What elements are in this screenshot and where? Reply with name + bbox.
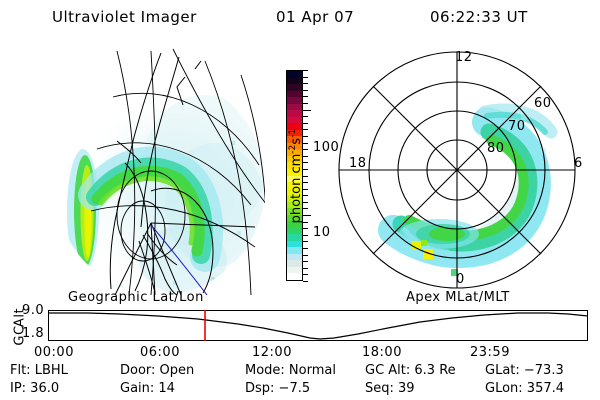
colorbar-tick bbox=[303, 274, 308, 275]
orbit-x-tick-2: 12:00 bbox=[252, 345, 292, 360]
ultraviolet-imager-window: Ultraviolet Imager 01 Apr 07 06:22:33 UT bbox=[0, 0, 600, 400]
status-flt: Flt: LBHL bbox=[10, 363, 68, 378]
colorbar-tick bbox=[303, 281, 308, 282]
orbit-x-tick-4: 23:59 bbox=[470, 345, 510, 360]
status-mode: Mode: Normal bbox=[245, 363, 336, 378]
mlt-label-0: 0 bbox=[456, 272, 465, 287]
mlt-spokes bbox=[339, 52, 575, 288]
mlt-label-6: 6 bbox=[574, 156, 583, 171]
status-dsp: Dsp: −7.5 bbox=[245, 381, 310, 396]
colorbar-group: photon cm-2s-1 bbox=[258, 60, 338, 295]
mlat-ring-label-80: 80 bbox=[487, 141, 505, 156]
status-ip: IP: 36.0 bbox=[10, 381, 59, 396]
mlat-ring-label-70: 70 bbox=[508, 119, 526, 134]
mlt-label-12: 12 bbox=[455, 50, 473, 65]
colorbar-axis-title-mid: s bbox=[289, 138, 304, 145]
colorbar-band bbox=[287, 273, 302, 280]
geographic-aurora-emission bbox=[67, 95, 265, 295]
mlt-label-18: 18 bbox=[349, 156, 367, 171]
status-glon: GLon: 357.4 bbox=[485, 381, 564, 396]
status-glat: GLat: −73.3 bbox=[485, 363, 564, 378]
orbit-x-tick-1: 06:00 bbox=[140, 345, 180, 360]
orbit-time-marker bbox=[48, 310, 588, 341]
mlt-dial-svg bbox=[335, 48, 585, 296]
colorbar-tick-label-low: 10 bbox=[313, 225, 331, 240]
colorbar-exponent-2: -1 bbox=[288, 129, 298, 138]
colorbar-ticks bbox=[303, 70, 311, 281]
status-gain: Gain: 14 bbox=[120, 381, 175, 396]
colorbar-tick bbox=[303, 83, 308, 84]
colorbar-axis-title: photon cm-2s-1 bbox=[288, 86, 304, 266]
status-gc-alt: GC Alt: 6.3 Re bbox=[365, 363, 456, 378]
geographic-image-panel[interactable] bbox=[55, 45, 265, 295]
colorbar-tick bbox=[303, 215, 311, 216]
status-door: Door: Open bbox=[120, 363, 194, 378]
colorbar-tick bbox=[303, 110, 311, 111]
page-title: Ultraviolet Imager bbox=[52, 8, 197, 26]
colorbar-tick bbox=[303, 268, 308, 269]
status-seq: Seq: 39 bbox=[365, 381, 415, 396]
mlat-ring-label-60: 60 bbox=[534, 96, 552, 111]
status-bar: Flt: LBHL Door: Open Mode: Normal GC Alt… bbox=[0, 363, 600, 400]
orbit-x-tick-0: 00:00 bbox=[34, 345, 74, 360]
observation-date: 01 Apr 07 bbox=[276, 8, 354, 26]
orbit-altitude-chart[interactable] bbox=[0, 288, 600, 358]
colorbar-exponent-1: -2 bbox=[288, 145, 298, 154]
observation-time: 06:22:33 UT bbox=[430, 8, 528, 26]
colorbar-tick bbox=[303, 77, 308, 78]
geographic-plot-svg bbox=[55, 45, 265, 295]
orbit-x-tick-3: 18:00 bbox=[362, 345, 402, 360]
apex-mlat-mlt-panel[interactable] bbox=[335, 48, 585, 296]
colorbar-tick bbox=[303, 70, 308, 71]
orbit-y-axis-title-prefix: GC bbox=[13, 306, 28, 366]
colorbar-axis-title-text: photon cm bbox=[289, 154, 304, 224]
